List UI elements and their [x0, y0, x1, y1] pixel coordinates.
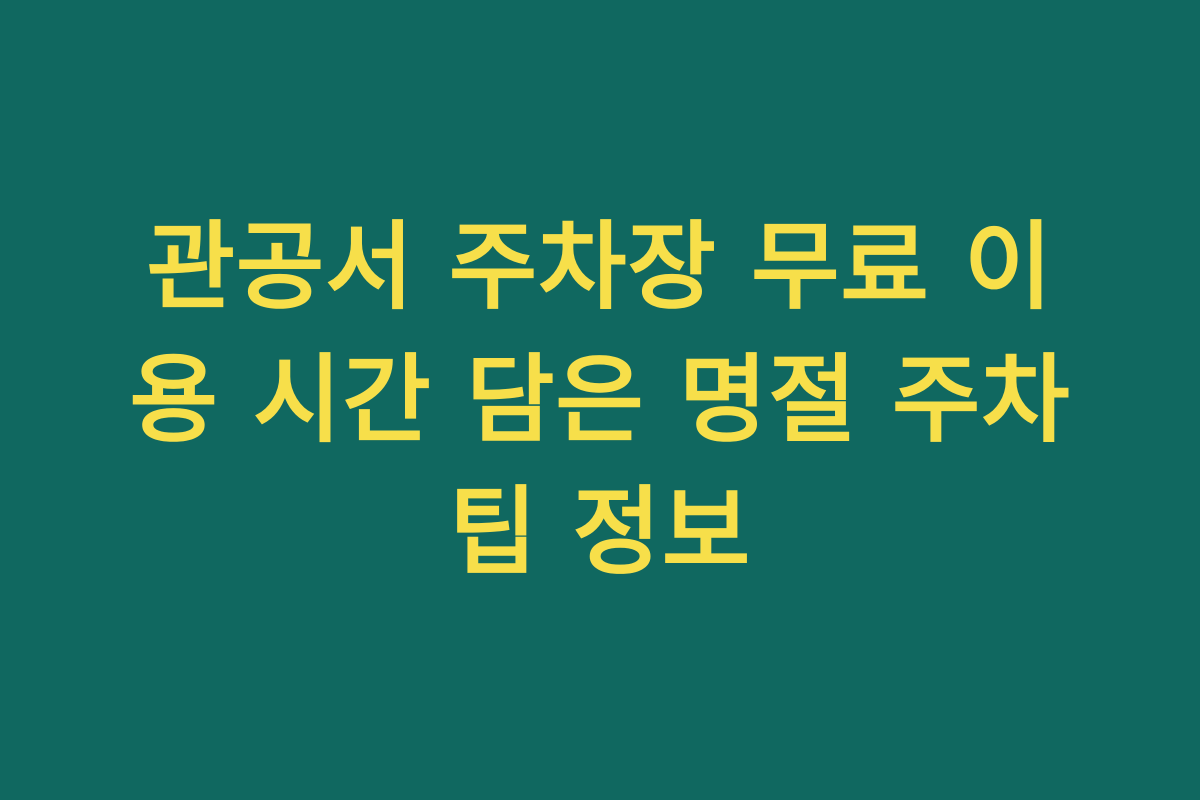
banner-card: 관공서 주차장 무료 이 용 시간 담은 명절 주차 팁 정보 [0, 0, 1200, 800]
headline-line-1: 관공서 주차장 무료 이 [100, 201, 1100, 333]
headline-line-3: 팁 정보 [100, 466, 1100, 598]
page-title: 관공서 주차장 무료 이 용 시간 담은 명절 주차 팁 정보 [100, 201, 1100, 598]
headline-line-2: 용 시간 담은 명절 주차 [100, 334, 1100, 466]
